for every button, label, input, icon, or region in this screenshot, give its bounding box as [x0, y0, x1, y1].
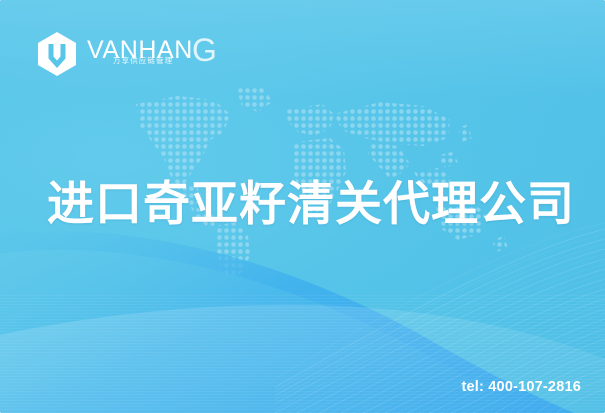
wordmark-last-letter: G [192, 37, 217, 63]
page-title: 进口奇亚籽清关代理公司 [47, 176, 575, 232]
brand-logo: VANHAN G 万享供应链管理 [36, 31, 217, 77]
hexagon-u-logo-icon [36, 31, 78, 77]
brand-wordmark: VANHAN G 万享供应链管理 [87, 37, 217, 71]
contact-telephone: tel: 400-107-2816 [462, 379, 581, 395]
wordmark-subtitle: 万享供应链管理 [113, 55, 173, 66]
promo-banner: VANHAN G 万享供应链管理 进口奇亚籽清关代理公司 tel: 400-10… [0, 0, 605, 413]
